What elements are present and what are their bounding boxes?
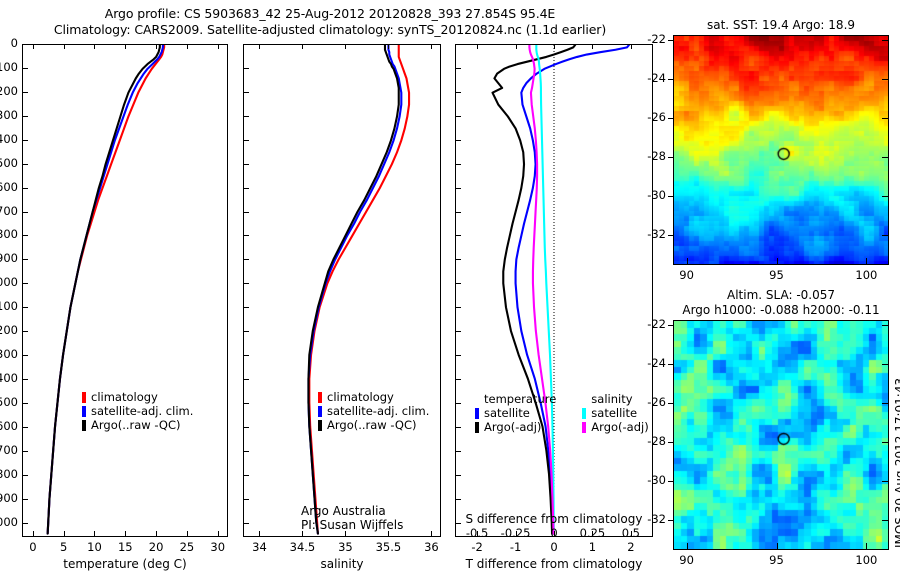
series-satellite-adj-clim- [48,45,163,534]
depth-tick-label: 1400 [0,371,18,385]
depth-tick [455,188,461,189]
map-title-line: Argo h1000: -0.088 h2000: -0.11 [614,303,900,318]
x-tick [125,531,126,537]
depth-tick [243,427,249,428]
legend-item: satellite-adj. clim. [318,404,429,418]
depth-tick [455,116,461,117]
x-tick-label: 34 [237,540,281,554]
imos-timestamp: IMOS 30-Aug-2012 17:01:43 [893,378,900,548]
depth-tick-label: 1900 [0,491,18,505]
map-lat-label: -26 [630,395,666,409]
depth-tick-label: 1200 [0,323,18,337]
depth-tick [22,92,28,93]
map-lat-label: -26 [630,110,666,124]
depth-tick-label: 1300 [0,347,18,361]
legend-color-swatch [82,420,86,431]
temperature-plot [23,45,227,536]
sst-map-frame [673,35,889,265]
map-lat-label: -22 [630,317,666,331]
depth-tick-label: 2000 [0,515,18,529]
x-tick-label: 36 [409,540,453,554]
depth-tick [243,523,249,524]
x-tick-top [516,44,517,49]
depth-tick [22,451,28,452]
x-tick-top [33,44,34,49]
map-lat-tick [668,157,674,158]
depth-tick [243,283,249,284]
map-lon-label: 90 [665,268,709,282]
x-tick [64,531,65,537]
depth-tick [455,355,461,356]
depth-tick [22,307,28,308]
map-lat-label: -32 [630,227,666,241]
depth-tick-label: 1500 [0,395,18,409]
depth-tick [243,116,249,117]
depth-tick-label: 1600 [0,419,18,433]
depth-tick [243,331,249,332]
depth-tick [455,331,461,332]
map-lat-tick-right [882,442,888,443]
depth-tick [455,451,461,452]
map-lon-label: 100 [844,553,888,567]
depth-tick [22,379,28,380]
legend-color-swatch [475,422,479,433]
x-tick-top [592,44,593,49]
depth-tick [22,44,28,45]
sla-map-title: Altim. SLA: -0.057Argo h1000: -0.088 h20… [614,288,900,318]
depth-tick [243,212,249,213]
depth-tick [455,307,461,308]
map-lat-tick [668,235,674,236]
depth-tick [243,44,249,45]
legend-item: Argo(..raw -QC) [318,418,429,432]
sst-map-title: sat. SST: 19.4 Argo: 18.9 [614,18,900,33]
map-lon-tick [866,543,867,549]
depth-tick-label: 1100 [0,299,18,313]
x-tick-top [156,44,157,49]
depth-tick [243,140,249,141]
map-lon-tick [687,258,688,264]
map-lat-label: -24 [630,356,666,370]
map-lat-tick [668,403,674,404]
legend-label: climatology [91,390,158,404]
map-lat-tick-right [882,481,888,482]
attribution-note: Argo AustraliaPI: Susan Wijffels [301,504,436,532]
map-lon-tick [866,258,867,264]
depth-tick [455,235,461,236]
depth-tick [455,140,461,141]
map-lat-tick [668,442,674,443]
x-tick-top [302,44,303,49]
legend-item: satellite-adj. clim. [82,404,193,418]
depth-tick [22,259,28,260]
legend-label: Argo(-adj) [591,420,648,434]
depth-tick [455,475,461,476]
map-lat-tick-right [882,364,888,365]
x-tick-label: 2 [609,540,653,554]
x-tick [156,531,157,537]
map-lon-label: 100 [844,268,888,282]
difference-xlabel: T difference from climatology [455,557,653,571]
depth-tick-label: 1800 [0,467,18,481]
legend-color-swatch [475,408,479,419]
depth-tick [22,188,28,189]
depth-tick [455,44,461,45]
depth-tick-label: 800 [0,227,18,241]
title-line-1: Argo profile: CS 5903683_42 25-Aug-2012 … [0,6,660,22]
depth-tick [243,379,249,380]
x-tick-top [554,44,555,49]
depth-tick [22,355,28,356]
x-tick [187,531,188,537]
map-lat-label: -28 [630,434,666,448]
x-tick [218,531,219,537]
x-tick [259,531,260,537]
map-lon-label: 90 [665,553,709,567]
depth-tick [22,283,28,284]
depth-tick [455,92,461,93]
legend-item: Argo(-adj) [475,420,556,434]
map-lon-label: 95 [755,553,799,567]
depth-tick [455,259,461,260]
depth-tick [455,379,461,380]
title-line-2: Climatology: CARS2009. Satellite-adjuste… [0,22,660,38]
s-tick [592,531,593,537]
map-lat-tick [668,481,674,482]
salinity-xlabel: salinity [243,557,441,571]
legend-color-swatch [318,392,322,403]
depth-tick [22,116,28,117]
legend-label: Argo(..raw -QC) [327,418,417,432]
series-argo-raw-qc- [308,45,398,534]
legend-column: temperaturesatelliteArgo(-adj) [475,392,556,434]
map-lat-tick-right [882,40,888,41]
depth-tick-label: 0 [0,36,18,50]
depth-tick-label: 100 [0,60,18,74]
legend-color-swatch [582,408,586,419]
x-tick [33,531,34,537]
sla-map-raster [674,321,888,549]
x-tick-top [218,44,219,49]
legend-label: climatology [327,390,394,404]
s-tick [631,531,632,537]
legend-label: satellite-adj. clim. [91,404,193,418]
x-tick-top [125,44,126,49]
depth-tick [243,164,249,165]
legend-item: satellite [475,406,556,420]
map-lat-tick [668,364,674,365]
map-lat-tick-right [882,79,888,80]
figure-root: Argo profile: CS 5903683_42 25-Aug-2012 … [0,0,900,580]
map-title-line: Altim. SLA: -0.057 [614,288,900,303]
depth-tick [455,499,461,500]
map-lat-tick [668,79,674,80]
legend-color-swatch [82,392,86,403]
x-tick-label: 1 [570,540,614,554]
x-tick-top [388,44,389,49]
map-lat-label: -30 [630,473,666,487]
legend-color-swatch [318,406,322,417]
x-tick-label: 0 [532,540,576,554]
map-lat-tick [668,40,674,41]
depth-tick [22,331,28,332]
depth-tick-label: 400 [0,132,18,146]
x-tick-top [259,44,260,49]
salinity-plot [244,45,440,536]
attribution-line: Argo Australia [301,504,436,518]
depth-tick [243,499,249,500]
depth-tick [22,68,28,69]
map-lat-tick [668,520,674,521]
x-tick-top [477,44,478,49]
depth-tick [455,68,461,69]
depth-tick-label: 200 [0,84,18,98]
depth-tick [243,355,249,356]
map-lon-tick [777,543,778,549]
depth-tick [22,403,28,404]
map-lon-tick [687,543,688,549]
x-tick-label: 35.5 [366,540,410,554]
difference-s-xlabel: S difference from climatology [455,512,653,526]
legend-color-swatch [82,406,86,417]
legend: climatologysatellite-adj. clim.Argo(..ra… [82,390,193,432]
temperature-xlabel: temperature (deg C) [22,557,228,571]
map-lat-label: -22 [630,32,666,46]
sla-map-frame [673,320,889,550]
depth-tick-label: 900 [0,251,18,265]
series-argo-raw-qc- [48,45,160,534]
difference-legend: temperaturesatelliteArgo(-adj)salinitysa… [475,392,649,434]
x-tick-top [94,44,95,49]
depth-tick [243,403,249,404]
salinity-axes [243,44,441,537]
depth-tick [22,523,28,524]
x-tick-label: 34.5 [280,540,324,554]
map-lat-tick [668,325,674,326]
x-tick [94,531,95,537]
legend-header: temperature [484,392,556,406]
x-tick-label: 30 [196,540,240,554]
legend-item: climatology [82,390,193,404]
legend-item: Argo(-adj) [582,420,648,434]
legend: climatologysatellite-adj. clim.Argo(..ra… [318,390,429,432]
legend-color-swatch [318,420,322,431]
depth-tick [243,451,249,452]
x-tick-top [345,44,346,49]
x-tick-top [64,44,65,49]
depth-tick-label: 1000 [0,275,18,289]
map-lat-label: -32 [630,512,666,526]
map-lat-tick-right [882,403,888,404]
depth-tick [243,235,249,236]
map-lat-tick [668,196,674,197]
depth-tick [455,283,461,284]
map-lat-tick [668,118,674,119]
x-tick-top [431,44,432,49]
map-lat-tick-right [882,157,888,158]
depth-tick [243,68,249,69]
sst-map-raster [674,36,888,264]
map-lat-tick-right [882,196,888,197]
map-lat-tick-right [882,325,888,326]
x-tick-label: -1 [494,540,538,554]
depth-tick-label: 700 [0,204,18,218]
depth-tick [243,188,249,189]
map-lon-label: 95 [755,268,799,282]
legend-item: Argo(..raw -QC) [82,418,193,432]
depth-tick [22,212,28,213]
depth-tick [455,164,461,165]
depth-tick [243,475,249,476]
x-tick-label: -2 [455,540,499,554]
map-lon-tick [777,258,778,264]
legend-label: Argo(..raw -QC) [91,418,181,432]
s-tick [516,531,517,537]
figure-title: Argo profile: CS 5903683_42 25-Aug-2012 … [0,6,660,38]
series-climatology [48,45,164,534]
map-lat-label: -24 [630,71,666,85]
depth-tick [22,235,28,236]
depth-tick [22,475,28,476]
depth-tick [22,427,28,428]
legend-item: climatology [318,390,429,404]
legend-label: satellite [484,406,530,420]
legend-color-swatch [582,422,586,433]
s-tick [554,531,555,537]
attribution-line: PI: Susan Wijffels [301,518,436,532]
x-tick-label: 35 [323,540,367,554]
map-lat-label: -28 [630,149,666,163]
depth-tick [455,427,461,428]
legend-label: satellite-adj. clim. [327,404,429,418]
depth-tick-label: 1700 [0,443,18,457]
map-lat-tick-right [882,118,888,119]
depth-tick [22,499,28,500]
map-lat-tick-right [882,520,888,521]
depth-tick [455,403,461,404]
depth-tick [22,164,28,165]
legend-label: Argo(-adj) [484,420,541,434]
depth-tick-label: 500 [0,156,18,170]
map-lat-label: -30 [630,188,666,202]
depth-tick [243,259,249,260]
depth-tick-label: 300 [0,108,18,122]
map-title-line: sat. SST: 19.4 Argo: 18.9 [614,18,900,33]
x-tick-top [187,44,188,49]
depth-tick [243,307,249,308]
depth-tick [455,212,461,213]
map-lat-tick-right [882,235,888,236]
depth-tick-label: 600 [0,180,18,194]
depth-tick [243,92,249,93]
temperature-axes [22,44,228,537]
s-tick [477,531,478,537]
depth-tick [22,140,28,141]
